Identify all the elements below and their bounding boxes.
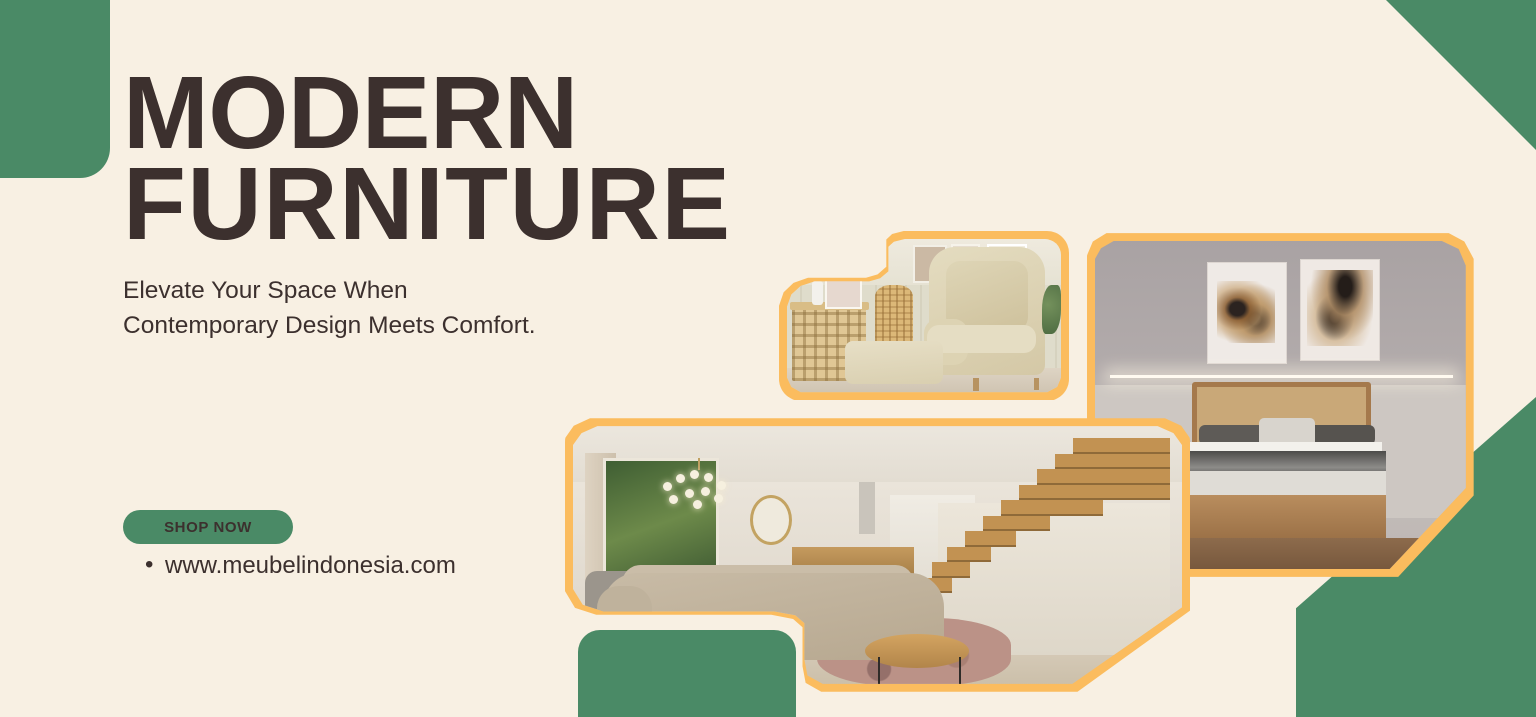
page-title: MODERN FURNITURE — [123, 68, 732, 249]
range-hood — [859, 482, 875, 534]
armchair-leg-right — [1034, 378, 1039, 390]
headline-line-2: FURNITURE — [123, 159, 732, 250]
image-card-armchair-room[interactable] — [779, 231, 1069, 401]
abstract-art-right — [1300, 259, 1380, 361]
photo-armchair-room — [787, 239, 1061, 393]
leaning-picture — [825, 274, 862, 309]
armchair-scene — [787, 239, 1061, 393]
sputnik-chandelier — [658, 466, 737, 513]
furniture-promo-banner: MODERN FURNITURE Elevate Your Space When… — [0, 0, 1536, 717]
subheadline: Elevate Your Space When Contemporary Des… — [123, 274, 536, 344]
chandelier-stem — [698, 458, 700, 469]
armchair-seat — [927, 325, 1037, 353]
green-corner-top-right — [1386, 0, 1536, 150]
cove-light-strip — [1110, 375, 1453, 378]
website-url[interactable]: www.meubelindonesia.com — [165, 552, 456, 580]
wall-clock — [750, 495, 793, 546]
armchair-leg-left — [973, 378, 978, 392]
subheadline-line-2: Contemporary Design Meets Comfort. — [123, 309, 536, 344]
shop-now-button[interactable]: SHOP NOW — [123, 510, 293, 544]
ottoman-footstool — [845, 341, 944, 384]
website-list: www.meubelindonesia.com — [143, 552, 456, 580]
vase — [812, 281, 823, 306]
abstract-art-left — [1207, 262, 1287, 364]
green-corner-top-left — [0, 0, 110, 178]
bed-base-frame — [1188, 495, 1386, 541]
subheadline-line-1: Elevate Your Space When — [123, 274, 536, 309]
coffee-table-legs — [878, 657, 961, 686]
wooden-staircase — [914, 434, 1170, 628]
